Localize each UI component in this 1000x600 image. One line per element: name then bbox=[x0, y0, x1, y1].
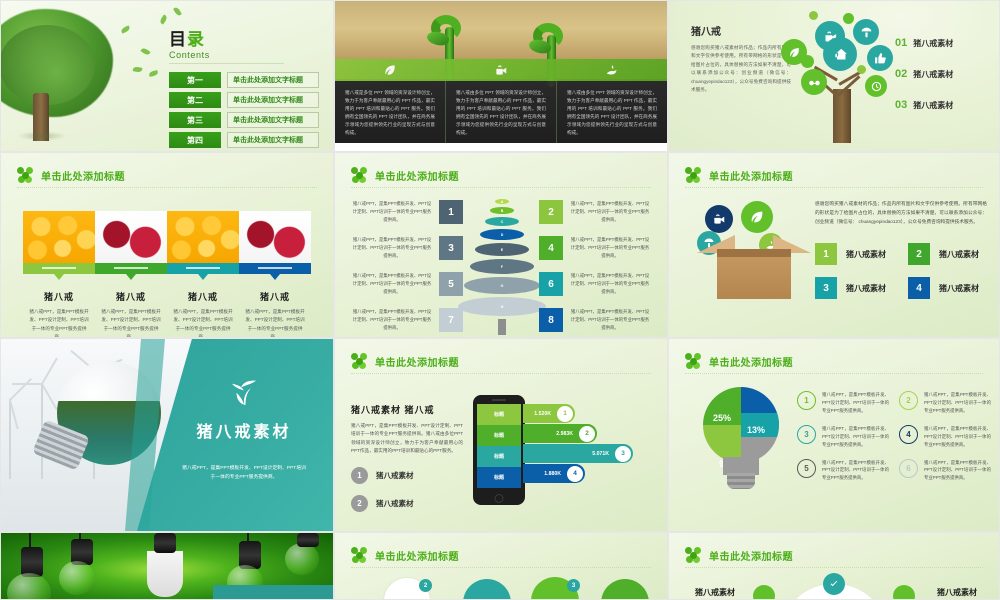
slide-thumbnail-grid: 目录 Contents 第一 单击此处添加文字标题 第二 单击此处添加文字标题 … bbox=[0, 0, 1000, 600]
card[interactable]: 猪八戒 猪八戒PPT，是集PPT模板开发、PPT设计定制、PPT培训于一体的专业… bbox=[239, 211, 311, 338]
tagline: 猪八戒PPT，是集PPT模板开发、PPT设计定制、PPT培训于一体的专业PPT服… bbox=[169, 464, 319, 482]
clover-icon bbox=[351, 547, 367, 563]
contents-list: 第一 单击此处添加文字标题 第二 单击此处添加文字标题 第三 单击此处添加文字标… bbox=[169, 72, 319, 148]
item-number: 4 bbox=[899, 425, 918, 444]
section-heading: 猪八戒素材 猪八戒 bbox=[351, 403, 463, 416]
card-bar bbox=[239, 263, 311, 274]
slide-12-check[interactable]: 单击此处添加标题 猪八戒素材 猪八戒素材 bbox=[668, 532, 1000, 600]
item-label: 猪八戒素材 bbox=[376, 470, 414, 481]
card-bar bbox=[95, 263, 167, 274]
slide-6-box-icons[interactable]: 单击此处添加标题 感谢您购买猪八戒素材的作品；作品内所有图片和文字仅供参考使用。… bbox=[668, 152, 1000, 338]
item-text: 猪八戒PPT，是集PPT模板开发、PPT设计定制、PPT培训于一体的专业PPT服… bbox=[345, 308, 439, 332]
divider bbox=[17, 187, 317, 188]
clock-icon bbox=[865, 75, 887, 97]
text-columns: 猪八戒是多位 PPT 领域的资深设计师创立，致力于为客户奉献最用心的 PPT 作… bbox=[335, 81, 667, 143]
item-text: 猪八戒PPT，是集PPT模板开发、PPT设计定制、PPT培训于一体的专业PPT服… bbox=[924, 425, 991, 449]
item-text: 猪八戒PPT，是集PPT模板开发、PPT设计定制、PPT培训于一体的专业PPT服… bbox=[563, 236, 657, 260]
list-item[interactable]: 猪八戒PPT，是集PPT模板开发、PPT设计定制、PPT培训于一体的专业PPT服… bbox=[345, 197, 463, 227]
title-text: 单击此处添加标题 bbox=[709, 548, 793, 563]
item-number: 1 bbox=[815, 243, 837, 265]
leaf-icon bbox=[741, 201, 773, 233]
cone-stem bbox=[498, 319, 506, 335]
toc-index: 第二 bbox=[169, 92, 221, 108]
slide-title: 单击此处添加标题 bbox=[17, 167, 125, 183]
slide-11-circles[interactable]: 单击此处添加标题 2 3 bbox=[334, 532, 668, 600]
thumbs-up-icon bbox=[867, 45, 893, 71]
item-label: 猪八戒素材 bbox=[846, 283, 886, 294]
screen-row: 标题 bbox=[477, 446, 521, 467]
watering-can-icon bbox=[705, 205, 733, 233]
item-number: 2 bbox=[351, 495, 368, 512]
list-item[interactable]: 第一 单击此处添加文字标题 bbox=[169, 72, 319, 88]
item-number: 6 bbox=[539, 272, 563, 296]
slide-1-contents[interactable]: 目录 Contents 第一 单击此处添加文字标题 第二 单击此处添加文字标题 … bbox=[0, 0, 334, 152]
item-text: 猪八戒PPT，是集PPT模板开发、PPT设计定制、PPT培训于一体的专业PPT服… bbox=[345, 236, 439, 260]
item-number: 7 bbox=[439, 308, 463, 332]
intro-text: 感谢您购买猪八戒素材的作品；作品内所有图片和文字仅供参考使用。所有带网格的形状是… bbox=[815, 199, 987, 226]
item-text: 猪八戒PPT，是集PPT模板开发、PPT设计定制、PPT培训于一体的专业PPT服… bbox=[822, 391, 889, 415]
cone-layer: G bbox=[464, 277, 540, 294]
card-heading: 猪八戒 bbox=[173, 290, 233, 303]
item-label: 猪八戒素材 bbox=[913, 69, 953, 80]
layered-cone-chart: A B C D E F G H bbox=[466, 199, 538, 307]
card[interactable]: 猪八戒 猪八戒PPT，是集PPT模板开发、PPT设计定制、PPT培训于一体的专业… bbox=[23, 211, 95, 338]
list-item[interactable]: 1 猪八戒素材 bbox=[815, 243, 894, 265]
item-label: 猪八戒素材 bbox=[846, 249, 886, 260]
cone-layer: C bbox=[485, 217, 519, 226]
phone-screen: 标题 标题 标题 标题 bbox=[477, 404, 521, 488]
item-number: 3 bbox=[439, 236, 463, 260]
item-number: 1 bbox=[797, 391, 816, 410]
bar-value: 2.983K bbox=[556, 431, 573, 437]
numbered-list: 01 猪八戒素材 02 猪八戒素材 03 猪八戒素材 bbox=[895, 37, 991, 130]
item-text: 猪八戒PPT，是集PPT模板开发、PPT设计定制、PPT培训于一体的专业PPT服… bbox=[822, 425, 889, 449]
slide-2-sprouts[interactable]: 猪八戒是多位 PPT 领域的资深设计师创立，致力于为客户奉献最用心的 PPT 作… bbox=[334, 0, 668, 152]
title-text: 单击此处添加标题 bbox=[709, 168, 793, 183]
mushroom-icon bbox=[853, 19, 879, 45]
item-number: 03 bbox=[895, 99, 907, 111]
screen-row: 标题 bbox=[477, 425, 521, 446]
slide-3-icon-tree[interactable]: 猪八戒 感谢您购买猪八戒素材的作品；作品内所有图片和文字仅供参考使用。所有带网格… bbox=[668, 0, 1000, 152]
right-items: 猪八戒PPT，是集PPT模板开发、PPT设计定制、PPT培训于一体的专业PPT服… bbox=[539, 197, 657, 338]
cone-layer: H bbox=[458, 297, 546, 316]
title-text: 单击此处添加标题 bbox=[41, 168, 125, 183]
legend-grid: 1 猪八戒PPT，是集PPT模板开发、PPT设计定制、PPT培训于一体的专业PP… bbox=[797, 391, 991, 482]
toc-label: 单击此处添加文字标题 bbox=[227, 112, 319, 128]
chart-bar: 1.880K 4 bbox=[523, 464, 585, 483]
clover-icon bbox=[685, 167, 701, 183]
card-body: 猪八戒PPT，是集PPT模板开发、PPT设计定制、PPT培训于一体的专业PPT服… bbox=[245, 308, 305, 338]
pie-chart bbox=[703, 387, 779, 463]
list-item[interactable]: 猪八戒PPT，是集PPT模板开发、PPT设计定制、PPT培训于一体的专业PPT服… bbox=[345, 305, 463, 335]
divider bbox=[685, 373, 983, 374]
list-item[interactable]: 猪八戒PPT，是集PPT模板开发、PPT设计定制、PPT培训于一体的专业PPT服… bbox=[539, 305, 657, 335]
item-number: 4 bbox=[908, 277, 930, 299]
bar-index: 3 bbox=[615, 446, 631, 462]
item-number: 1 bbox=[351, 467, 368, 484]
teal-tab bbox=[213, 585, 333, 599]
list-item[interactable]: 猪八戒PPT，是集PPT模板开发、PPT设计定制、PPT培训于一体的专业PPT服… bbox=[345, 269, 463, 299]
toc-label: 单击此处添加文字标题 bbox=[227, 72, 319, 88]
chart-bar: 5.071K 3 bbox=[523, 444, 633, 463]
slide-title: 单击此处添加标题 bbox=[351, 167, 459, 183]
item-text: 猪八戒PPT，是集PPT模板开发、PPT设计定制、PPT培训于一体的专业PPT服… bbox=[345, 200, 439, 224]
list-item[interactable]: 1 猪八戒PPT，是集PPT模板开发、PPT设计定制、PPT培训于一体的专业PP… bbox=[797, 391, 889, 415]
card[interactable]: 猪八戒 猪八戒PPT，是集PPT模板开发、PPT设计定制、PPT培训于一体的专业… bbox=[167, 211, 239, 338]
page-title: 猪八戒 bbox=[691, 23, 791, 38]
list-item[interactable]: 3 猪八戒素材 bbox=[815, 277, 894, 299]
item-text: 猪八戒PPT，是集PPT模板开发、PPT设计定制、PPT培训于一体的专业PPT服… bbox=[924, 459, 991, 483]
item-text: 猪八戒PPT，是集PPT模板开发、PPT设计定制、PPT培训于一体的专业PPT服… bbox=[924, 391, 991, 415]
home-button[interactable] bbox=[495, 494, 504, 503]
list-item[interactable]: 2 猪八戒PPT，是集PPT模板开发、PPT设计定制、PPT培训于一体的专业PP… bbox=[899, 391, 991, 415]
divider bbox=[685, 567, 983, 568]
list-item[interactable]: 第三 单击此处添加文字标题 bbox=[169, 112, 319, 128]
list-item[interactable]: 4 猪八戒PPT，是集PPT模板开发、PPT设计定制、PPT培训于一体的专业PP… bbox=[899, 425, 991, 449]
toc-index: 第三 bbox=[169, 112, 221, 128]
list-item[interactable]: 02 猪八戒素材 bbox=[895, 68, 991, 80]
list-item[interactable]: 6 猪八戒PPT，是集PPT模板开发、PPT设计定制、PPT培训于一体的专业PP… bbox=[899, 459, 991, 483]
card-body: 猪八戒PPT，是集PPT模板开发、PPT设计定制、PPT培训于一体的专业PPT服… bbox=[29, 308, 89, 338]
clover-icon bbox=[17, 167, 33, 183]
item-number: 3 bbox=[797, 425, 816, 444]
check-circle-icon bbox=[823, 573, 845, 595]
item-text: 猪八戒PPT，是集PPT模板开发、PPT设计定制、PPT培训于一体的专业PPT服… bbox=[822, 459, 889, 483]
list-item[interactable]: 01 猪八戒素材 bbox=[895, 37, 991, 49]
card-heading: 猪八戒 bbox=[101, 290, 161, 303]
list-item[interactable]: 3 猪八戒PPT，是集PPT模板开发、PPT设计定制、PPT培训于一体的专业PP… bbox=[797, 425, 889, 449]
clover-icon bbox=[685, 353, 701, 369]
cone-layer: E bbox=[475, 243, 529, 256]
card-bar bbox=[23, 263, 95, 274]
plant-hand-icon bbox=[556, 59, 667, 81]
badge: 2 bbox=[419, 579, 432, 592]
title-text: 单击此处添加标题 bbox=[375, 354, 459, 369]
pie-label: 25% bbox=[713, 413, 731, 423]
contents-panel: 目录 Contents 第一 单击此处添加文字标题 第二 单击此处添加文字标题 … bbox=[169, 31, 319, 152]
icon-band bbox=[335, 59, 667, 81]
slide-title: 单击此处添加标题 bbox=[685, 353, 793, 369]
clover-icon bbox=[351, 167, 367, 183]
tree-illustration bbox=[0, 7, 139, 147]
slide-title: 单击此处添加标题 bbox=[351, 353, 459, 369]
speaker-slot bbox=[492, 399, 506, 401]
glasses-icon bbox=[801, 69, 827, 95]
leaf-logo-icon bbox=[169, 379, 319, 410]
text-column: 猪八戒由多位 PPT 领域的资深设计师创立，致力于为客户奉献最用心的 PPT 作… bbox=[556, 81, 667, 143]
right-label: 猪八戒素材 bbox=[937, 587, 977, 598]
contents-title-en: Contents bbox=[169, 50, 284, 64]
slide-9-pie-bulb[interactable]: 单击此处添加标题 25% 13% 9% 1 猪八戒PPT，是集PPT模板开发、P… bbox=[668, 338, 1000, 532]
watering-can-icon bbox=[446, 59, 557, 81]
list-item[interactable]: 猪八戒PPT，是集PPT模板开发、PPT设计定制、PPT培训于一体的专业PPT服… bbox=[539, 233, 657, 263]
house-leaf-icon bbox=[823, 37, 857, 71]
list-item[interactable]: 5 猪八戒PPT，是集PPT模板开发、PPT设计定制、PPT培训于一体的专业PP… bbox=[797, 459, 889, 483]
screen-row: 标题 bbox=[477, 404, 521, 425]
slide-4-fruit-cards[interactable]: 单击此处添加标题 猪八戒 猪八戒PPT，是集PPT模板开发、PPT设计定制、PP… bbox=[0, 152, 334, 338]
slide-title: 单击此处添加标题 bbox=[351, 547, 459, 563]
card-bar bbox=[167, 263, 239, 274]
item-grid: 1 猪八戒素材 2 猪八戒素材 3 猪八戒素材 4 猪八戒素材 bbox=[815, 243, 987, 299]
toc-index: 第一 bbox=[169, 72, 221, 88]
item-text: 猪八戒PPT，是集PPT模板开发、PPT设计定制、PPT培训于一体的专业PPT服… bbox=[563, 272, 657, 296]
leaf-icon bbox=[335, 59, 446, 81]
list-item[interactable]: 第二 单击此处添加文字标题 bbox=[169, 92, 319, 108]
contents-title-cn: 目录 bbox=[169, 31, 319, 48]
chart-bar: 1.520K 1 bbox=[523, 404, 575, 423]
bar-chart: 1.520K 1 2.983K 2 5.071K 3 1.880K 4 bbox=[523, 404, 633, 484]
cone-layer: F bbox=[470, 259, 534, 274]
item-text: 猪八戒PPT，是集PPT模板开发、PPT设计定制、PPT培训于一体的专业PPT服… bbox=[563, 308, 657, 332]
divider bbox=[351, 187, 651, 188]
list-item[interactable]: 2 猪八戒素材 bbox=[908, 243, 987, 265]
card-image bbox=[167, 211, 239, 263]
pie-label: 13% bbox=[747, 425, 765, 435]
card-row: 猪八戒 猪八戒PPT，是集PPT模板开发、PPT设计定制、PPT培训于一体的专业… bbox=[23, 211, 311, 338]
text-column: 猪八戒是多位 PPT 领域的资深设计师创立，致力于为客户奉献最用心的 PPT 作… bbox=[335, 81, 445, 143]
list-item[interactable]: 第四 单击此处添加文字标题 bbox=[169, 132, 319, 148]
card-heading: 猪八戒 bbox=[29, 290, 89, 303]
cone-layer: D bbox=[480, 229, 524, 240]
dot-marker bbox=[893, 585, 915, 600]
bar-index: 1 bbox=[557, 406, 573, 422]
pie-bulb-chart: 25% 13% 9% bbox=[697, 387, 785, 497]
slide-5-layered-tree[interactable]: 单击此处添加标题 A B C D E F G H 猪八戒PPT，是集PPT模板开… bbox=[334, 152, 668, 338]
slide-title: 单击此处添加标题 bbox=[685, 547, 793, 563]
card-image bbox=[239, 211, 311, 263]
title-text: 单击此处添加标题 bbox=[375, 548, 459, 563]
item-number: 5 bbox=[439, 272, 463, 296]
item-label: 猪八戒素材 bbox=[376, 498, 414, 509]
chart-bar: 2.983K 2 bbox=[523, 424, 597, 443]
list-item[interactable]: 2 猪八戒素材 bbox=[351, 495, 463, 512]
cover-content: 猪八戒素材 猪八戒PPT，是集PPT模板开发、PPT设计定制、PPT培训于一体的… bbox=[169, 379, 319, 482]
brand-title: 猪八戒素材 bbox=[169, 418, 319, 442]
bar-value: 1.520K bbox=[534, 411, 551, 417]
item-number: 2 bbox=[908, 243, 930, 265]
item-label: 猪八戒素材 bbox=[939, 249, 979, 260]
divider bbox=[685, 187, 983, 188]
cfl-bulb bbox=[147, 551, 183, 597]
card-image bbox=[95, 211, 167, 263]
circle-node[interactable] bbox=[463, 579, 511, 600]
item-number: 5 bbox=[797, 459, 816, 478]
item-number: 1 bbox=[439, 200, 463, 224]
cone-layer: A bbox=[495, 199, 509, 204]
bar-index: 2 bbox=[579, 426, 595, 442]
slide-8-phone-chart[interactable]: 单击此处添加标题 猪八戒素材 猪八戒 猪八戒PPT，是集PPT模板开发、PPT设… bbox=[334, 338, 668, 532]
item-number: 6 bbox=[899, 459, 918, 478]
open-box-illustration bbox=[699, 205, 809, 305]
item-number: 2 bbox=[539, 200, 563, 224]
cone-layer: B bbox=[490, 207, 514, 214]
card-body: 猪八戒PPT，是集PPT模板开发、PPT设计定制、PPT培训于一体的专业PPT服… bbox=[101, 308, 161, 338]
bottom-strip bbox=[335, 143, 667, 151]
toc-label: 单击此处添加文字标题 bbox=[227, 92, 319, 108]
card-body: 猪八戒PPT，是集PPT模板开发、PPT设计定制、PPT培训于一体的专业PPT服… bbox=[173, 308, 233, 338]
card[interactable]: 猪八戒 猪八戒PPT，是集PPT模板开发、PPT设计定制、PPT培训于一体的专业… bbox=[95, 211, 167, 338]
intro-block: 猪八戒 感谢您购买猪八戒素材的作品；作品内所有图片和文字仅供参考使用。所有带网格… bbox=[691, 23, 791, 95]
icon-tree-illustration bbox=[781, 7, 901, 143]
divider bbox=[351, 567, 651, 568]
slide-title: 单击此处添加标题 bbox=[685, 167, 793, 183]
item-label: 猪八戒素材 bbox=[913, 100, 953, 111]
text-column: 猪八戒由多位 PPT 领域的资深设计师创立，致力于为客户奉献最用心的 PPT 作… bbox=[445, 81, 556, 143]
title-text: 单击此处添加标题 bbox=[709, 354, 793, 369]
item-number: 01 bbox=[895, 37, 907, 49]
item-text: 猪八戒PPT，是集PPT模板开发、PPT设计定制、PPT培训于一体的专业PPT服… bbox=[563, 200, 657, 224]
bar-value: 5.071K bbox=[592, 451, 609, 457]
item-number: 8 bbox=[539, 308, 563, 332]
left-label: 猪八戒素材 bbox=[695, 587, 735, 598]
list-item[interactable]: 猪八戒PPT，是集PPT模板开发、PPT设计定制、PPT培训于一体的专业PPT服… bbox=[539, 197, 657, 227]
left-items: 猪八戒PPT，是集PPT模板开发、PPT设计定制、PPT培训于一体的专业PPT服… bbox=[345, 197, 463, 338]
screen-row: 标题 bbox=[477, 467, 521, 488]
intro-text: 感谢您购买猪八戒素材的作品；作品内所有图片和文字仅供参考使用。所有带网格的形状是… bbox=[691, 44, 791, 95]
toc-label: 单击此处添加文字标题 bbox=[227, 132, 319, 148]
list-item[interactable]: 猪八戒PPT，是集PPT模板开发、PPT设计定制、PPT培训于一体的专业PPT服… bbox=[539, 269, 657, 299]
smartphone-mockup: 标题 标题 标题 标题 bbox=[473, 395, 525, 505]
circle-node[interactable] bbox=[601, 579, 649, 600]
list-item[interactable]: 猪八戒PPT，是集PPT模板开发、PPT设计定制、PPT培训于一体的专业PPT服… bbox=[345, 233, 463, 263]
slide-10-bulb-photo[interactable] bbox=[0, 532, 334, 600]
section-body: 猪八戒PPT，是集PPT模板开发、PPT设计定制、PPT培训于一体的专业PPT服… bbox=[351, 422, 463, 456]
clover-icon bbox=[351, 353, 367, 369]
item-label: 猪八戒素材 bbox=[939, 283, 979, 294]
list-item[interactable]: 1 猪八戒素材 bbox=[351, 467, 463, 484]
item-label: 猪八戒素材 bbox=[913, 38, 953, 49]
clover-icon bbox=[685, 547, 701, 563]
item-number: 4 bbox=[539, 236, 563, 260]
item-number: 02 bbox=[895, 68, 907, 80]
bar-value: 1.880K bbox=[544, 471, 561, 477]
item-text: 猪八戒PPT，是集PPT模板开发、PPT设计定制、PPT培训于一体的专业PPT服… bbox=[345, 272, 439, 296]
card-image bbox=[23, 211, 95, 263]
list-item[interactable]: 03 猪八戒素材 bbox=[895, 99, 991, 111]
toc-index: 第四 bbox=[169, 132, 221, 148]
item-number: 3 bbox=[815, 277, 837, 299]
list-item[interactable]: 4 猪八戒素材 bbox=[908, 277, 987, 299]
badge: 3 bbox=[567, 579, 580, 592]
item-number: 2 bbox=[899, 391, 918, 410]
bar-index: 4 bbox=[567, 466, 583, 482]
divider bbox=[351, 373, 651, 374]
text-block: 猪八戒素材 猪八戒 猪八戒PPT，是集PPT模板开发、PPT设计定制、PPT培训… bbox=[351, 403, 463, 512]
dot-marker bbox=[753, 585, 775, 600]
slide-7-cover[interactable]: 猪八戒素材 猪八戒PPT，是集PPT模板开发、PPT设计定制、PPT培训于一体的… bbox=[0, 338, 334, 532]
card-heading: 猪八戒 bbox=[245, 290, 305, 303]
title-text: 单击此处添加标题 bbox=[375, 168, 459, 183]
